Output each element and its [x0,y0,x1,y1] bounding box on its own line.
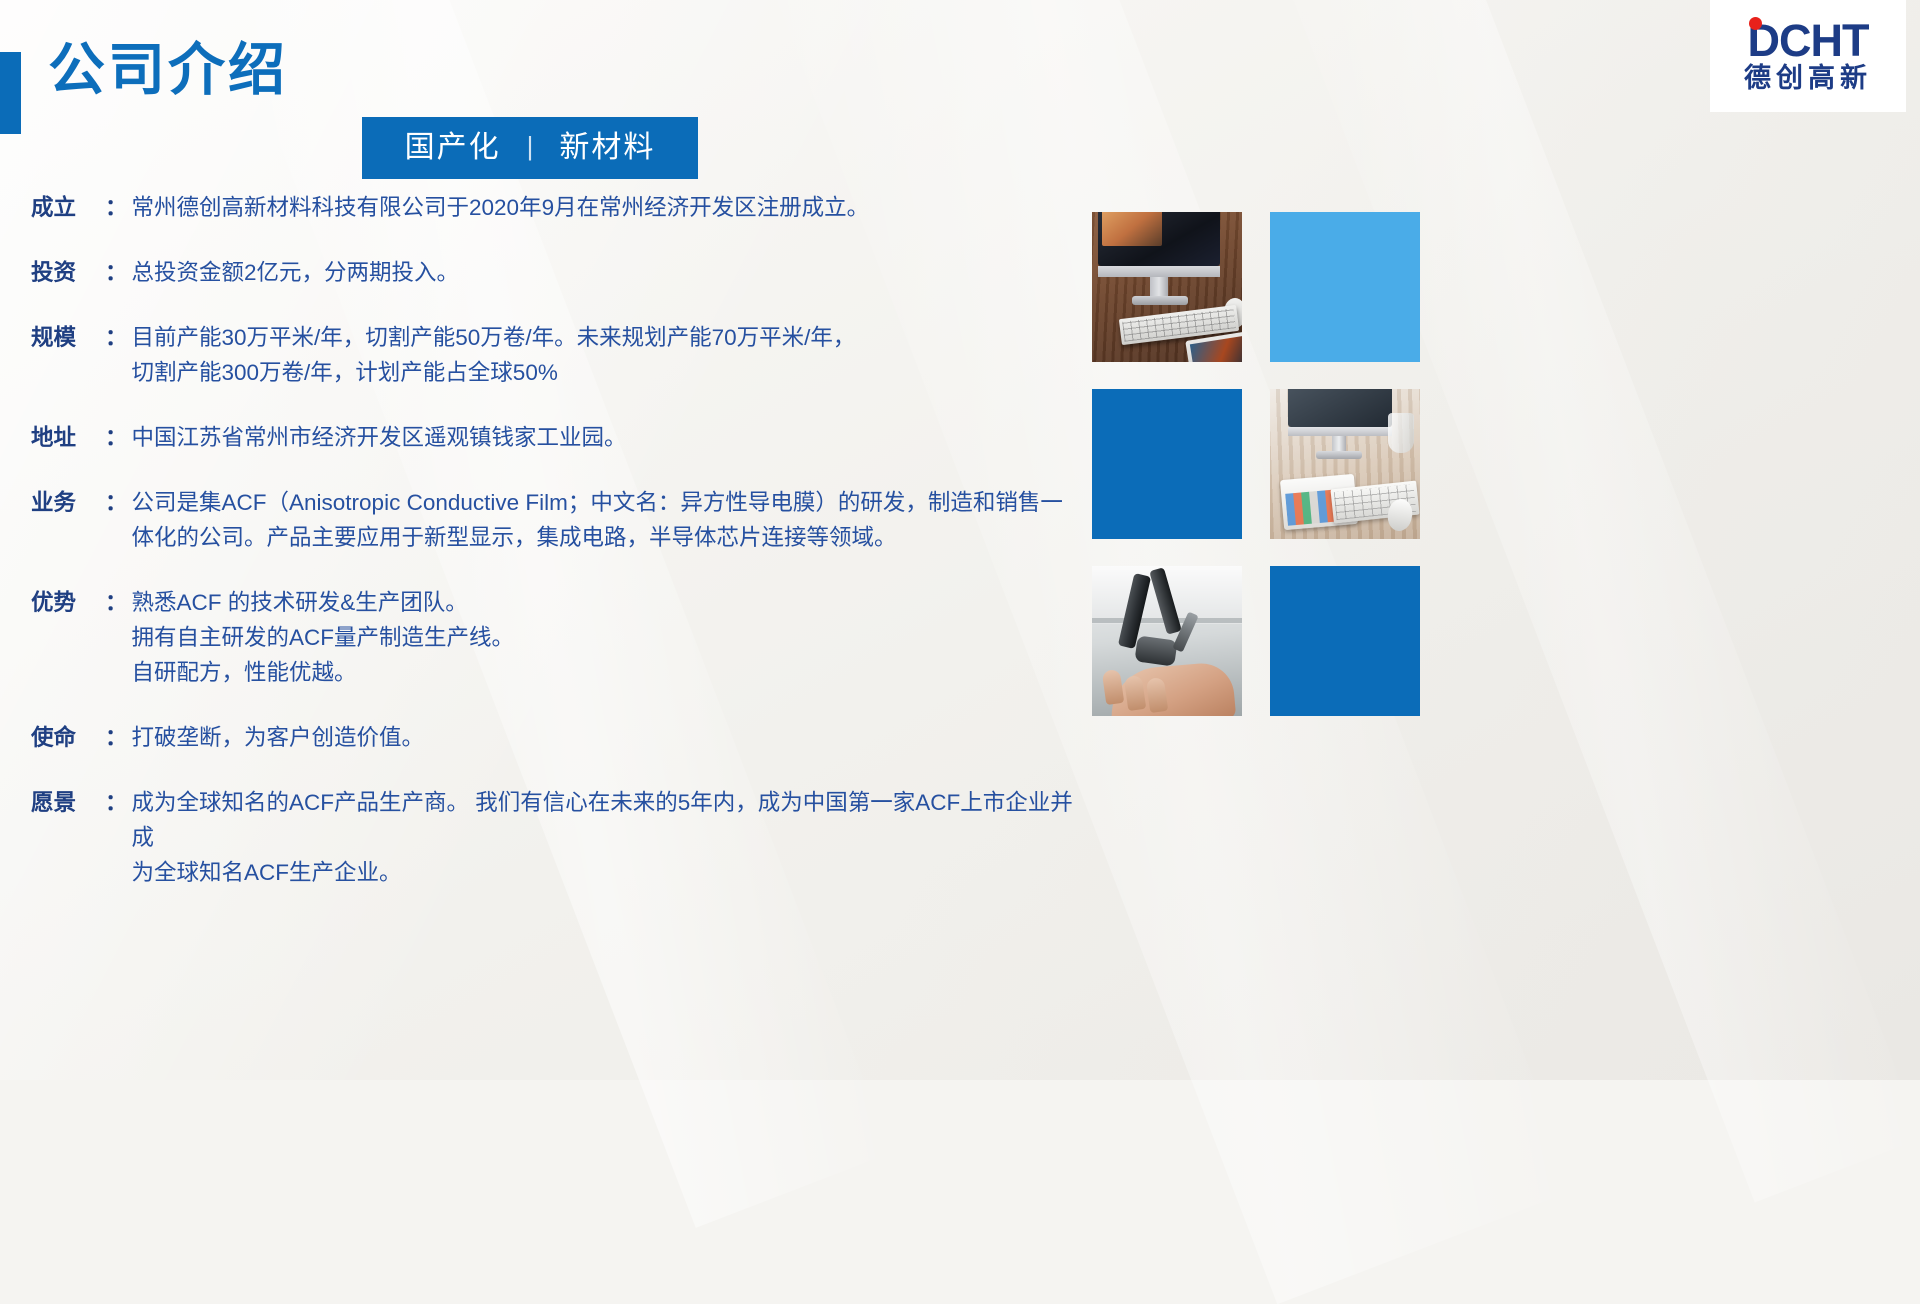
info-label: 成立 [31,190,105,225]
info-text: 熟悉ACF 的技术研发&生产团队。 拥有自主研发的ACF量产制造生产线。 自研配… [132,585,1091,690]
imac-wallpaper [1102,212,1162,246]
monitor-stand-neck [1332,436,1346,452]
page-title: 公司介绍 [48,42,288,99]
info-colon: ： [105,420,128,455]
logo-wordmark: DCHT [1748,20,1869,63]
info-text: 打破垄断，为客户创造价值。 [132,720,1091,755]
info-colon: ： [105,720,128,755]
info-colon: ： [105,785,128,820]
blue-tile-right [1270,566,1420,716]
info-row-advantage: 优势 ： 熟悉ACF 的技术研发&生产团队。 拥有自主研发的ACF量产制造生产线… [31,585,1091,690]
robotic-arm-hand-photo [1092,566,1242,716]
monitor-screen [1288,389,1392,427]
info-row-address: 地址 ： 中国江苏省常州市经济开发区遥观镇钱家工业园。 [31,420,1091,455]
logo-chinese-name: 德创高新 [1744,65,1872,92]
imac-screen [1098,212,1220,266]
info-label: 使命 [31,720,105,755]
info-label: 愿景 [31,785,105,820]
info-text: 目前产能30万平米/年，切割产能50万卷/年。未来规划产能70万平米/年， 切割… [132,320,1091,390]
info-colon: ： [105,585,128,620]
imac-desk-photo [1092,212,1242,362]
info-text: 公司是集ACF（Anisotropic Conductive Film；中文名：… [132,485,1091,555]
category-banner: 国产化 | 新材料 [362,117,698,179]
info-label: 投资 [31,255,105,290]
info-colon: ： [105,190,128,225]
robotic-arm-joint [1134,635,1177,666]
info-label: 地址 [31,420,105,455]
info-text: 总投资金额2亿元，分两期投入。 [132,255,1091,290]
logo-wordmark-row: DCHT [1748,20,1869,63]
info-text: 成为全球知名的ACF产品生产商。 我们有信心在未来的5年内，成为中国第一家ACF… [132,785,1091,890]
banner-label-new-material: 新材料 [559,133,655,163]
info-label: 规模 [31,320,105,355]
monitor-bezel [1288,427,1392,436]
info-row-mission: 使命 ： 打破垄断，为客户创造价值。 [31,720,1091,755]
info-text: 常州德创高新材料科技有限公司于2020年9月在常州经济开发区注册成立。 [132,190,1091,225]
blue-tile-left [1092,389,1242,539]
image-grid [1092,212,1420,716]
imac-stand-foot [1132,296,1188,305]
info-colon: ： [105,255,128,290]
company-logo: DCHT 德创高新 [1710,0,1906,112]
info-row-founding: 成立 ： 常州德创高新材料科技有限公司于2020年9月在常州经济开发区注册成立。 [31,190,1091,225]
banner-label-localization: 国产化 [405,133,501,163]
drinking-glass [1388,413,1414,453]
info-colon: ： [105,485,128,520]
info-row-vision: 愿景 ： 成为全球知名的ACF产品生产商。 我们有信心在未来的5年内，成为中国第… [31,785,1091,890]
info-colon: ： [105,320,128,355]
info-row-business: 业务 ： 公司是集ACF（Anisotropic Conductive Film… [31,485,1091,555]
title-accent-bar [0,52,21,134]
info-row-investment: 投资 ： 总投资金额2亿元，分两期投入。 [31,255,1091,290]
info-label: 业务 [31,485,105,520]
company-info-list: 成立 ： 常州德创高新材料科技有限公司于2020年9月在常州经济开发区注册成立。… [31,190,1091,920]
monitor-stand-foot [1316,451,1362,459]
info-text: 中国江苏省常州市经济开发区遥观镇钱家工业园。 [132,420,1091,455]
imac-stand-neck [1150,277,1168,297]
logo-red-dot-icon [1749,17,1762,30]
white-desk-photo [1270,389,1420,539]
info-label: 优势 [31,585,105,620]
imac-bezel [1098,266,1220,277]
light-blue-tile [1270,212,1420,362]
info-row-scale: 规模 ： 目前产能30万平米/年，切割产能50万卷/年。未来规划产能70万平米/… [31,320,1091,390]
banner-separator: | [527,133,534,159]
